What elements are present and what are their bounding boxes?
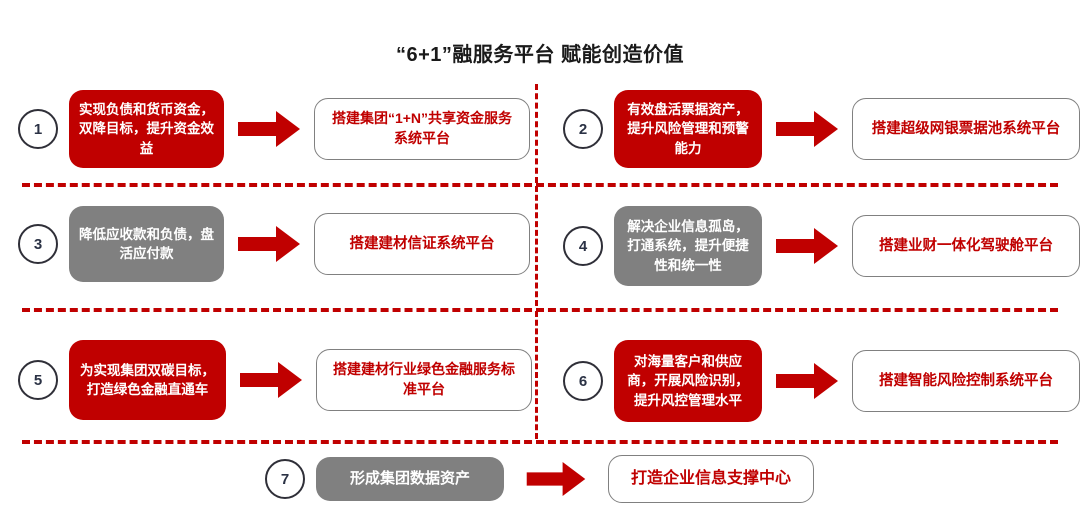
cause-box: 实现负债和货币资金，双降目标，提升资金效益 bbox=[69, 90, 224, 168]
flow-item-2: 2 有效盘活票据资产，提升风险管理和预警能力 搭建超级网银票据池系统平台 bbox=[563, 90, 1080, 168]
arrow-right-icon bbox=[238, 226, 300, 262]
cause-box: 形成集团数据资产 bbox=[316, 457, 504, 501]
column-divider-2 bbox=[535, 186, 538, 306]
cause-box: 对海量客户和供应商，开展风险识别，提升风控管理水平 bbox=[614, 340, 762, 422]
item-number-badge: 5 bbox=[18, 360, 58, 400]
item-number-badge: 6 bbox=[563, 361, 603, 401]
flow-item-3: 3 降低应收款和负债，盘活应付款 搭建建材信证系统平台 bbox=[18, 206, 530, 282]
row-divider-2 bbox=[22, 308, 1058, 312]
cause-box: 有效盘活票据资产，提升风险管理和预警能力 bbox=[614, 90, 762, 168]
arrow-right-icon bbox=[776, 111, 838, 147]
arrow-right-icon bbox=[776, 228, 838, 264]
row-divider-3 bbox=[22, 440, 1058, 444]
flow-item-1: 1 实现负债和货币资金，双降目标，提升资金效益 搭建集团“1+N”共享资金服务系… bbox=[18, 90, 530, 168]
arrow-right-icon bbox=[776, 363, 838, 399]
flow-item-4: 4 解决企业信息孤岛，打通系统，提升便捷性和统一性 搭建业财一体化驾驶舱平台 bbox=[563, 206, 1080, 286]
arrow-right-icon bbox=[238, 111, 300, 147]
result-box: 搭建建材信证系统平台 bbox=[314, 213, 530, 275]
cause-box: 解决企业信息孤岛，打通系统，提升便捷性和统一性 bbox=[614, 206, 762, 286]
result-box: 搭建业财一体化驾驶舱平台 bbox=[852, 215, 1080, 277]
item-number-badge: 2 bbox=[563, 109, 603, 149]
item-number-badge: 3 bbox=[18, 224, 58, 264]
result-box: 搭建集团“1+N”共享资金服务系统平台 bbox=[314, 98, 530, 160]
result-box: 搭建智能风险控制系统平台 bbox=[852, 350, 1080, 412]
result-box: 搭建建材行业绿色金融服务标准平台 bbox=[316, 349, 532, 411]
item-number-badge: 7 bbox=[265, 459, 305, 499]
column-divider-3 bbox=[535, 311, 538, 439]
page-title: “6+1”融服务平台 赋能创造价值 bbox=[0, 38, 1080, 67]
cause-box: 降低应收款和负债，盘活应付款 bbox=[69, 206, 224, 282]
result-box: 搭建超级网银票据池系统平台 bbox=[852, 98, 1080, 160]
cause-box: 为实现集团双碳目标，打造绿色金融直通车 bbox=[69, 340, 226, 420]
row-divider-1 bbox=[22, 183, 1058, 187]
item-number-badge: 1 bbox=[18, 109, 58, 149]
arrow-right-icon bbox=[526, 462, 586, 496]
flow-item-6: 6 对海量客户和供应商，开展风险识别，提升风控管理水平 搭建智能风险控制系统平台 bbox=[563, 340, 1080, 422]
flow-item-5: 5 为实现集团双碳目标，打造绿色金融直通车 搭建建材行业绿色金融服务标准平台 bbox=[18, 340, 532, 420]
item-number-badge: 4 bbox=[563, 226, 603, 266]
arrow-right-icon bbox=[240, 362, 302, 398]
column-divider-1 bbox=[535, 84, 538, 183]
flow-item-7: 7 形成集团数据资产 打造企业信息支撑中心 bbox=[265, 455, 814, 503]
result-box: 打造企业信息支撑中心 bbox=[608, 455, 814, 503]
